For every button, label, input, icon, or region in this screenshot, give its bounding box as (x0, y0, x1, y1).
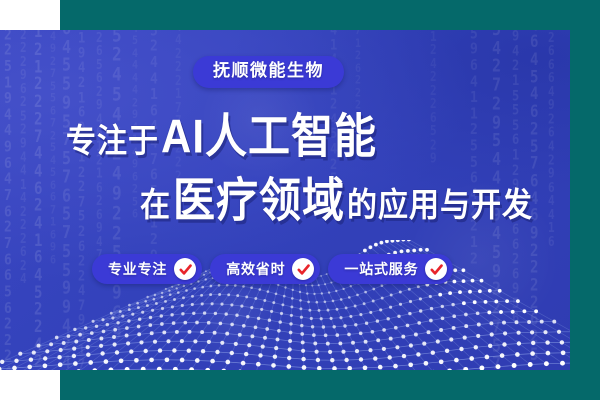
headline-line2-prefix: 在 (140, 179, 171, 234)
check-icon (174, 258, 196, 280)
frame-teal-bottom (60, 370, 600, 400)
headline-line2-suffix: 的应用与开发 (347, 179, 533, 234)
brand-badge-label: 抚顺微能生物 (213, 61, 324, 81)
corner-white-top-left (0, 0, 60, 30)
feature-pill-3: 一站式服务 (328, 254, 453, 284)
banner-image: 9 2 2 5 1 9 4 4 9 6 4 7 6 2 7 6 6 5 6 2 … (0, 0, 600, 400)
frame-teal-top (60, 0, 600, 30)
feature-pill-3-label: 一站式服务 (344, 260, 418, 278)
headline-line-1: 专注于AI人工智能 (0, 112, 570, 172)
headline-line1-small: 专注于 (66, 115, 159, 170)
feature-pill-2: 高效省时 (210, 254, 320, 284)
check-icon (425, 258, 447, 280)
feature-pill-1: 专业专注 (92, 254, 202, 284)
headline-block: 专注于AI人工智能 在医疗领域的应用与开发 (0, 112, 570, 236)
frame-teal-right (570, 0, 600, 400)
headline-line1-large: AI人工智能 (161, 109, 377, 165)
corner-white-bottom-left (0, 370, 60, 400)
headline-line-2: 在医疗领域的应用与开发 (0, 176, 570, 236)
feature-pill-1-label: 专业专注 (108, 260, 167, 278)
feature-pill-2-label: 高效省时 (226, 260, 285, 278)
feature-pill-list: 专业专注 高效省时 一站式服务 (92, 254, 453, 284)
brand-badge: 抚顺微能生物 (193, 56, 344, 88)
check-icon (292, 258, 314, 280)
headline-line2-large: 医疗领域 (173, 173, 345, 229)
